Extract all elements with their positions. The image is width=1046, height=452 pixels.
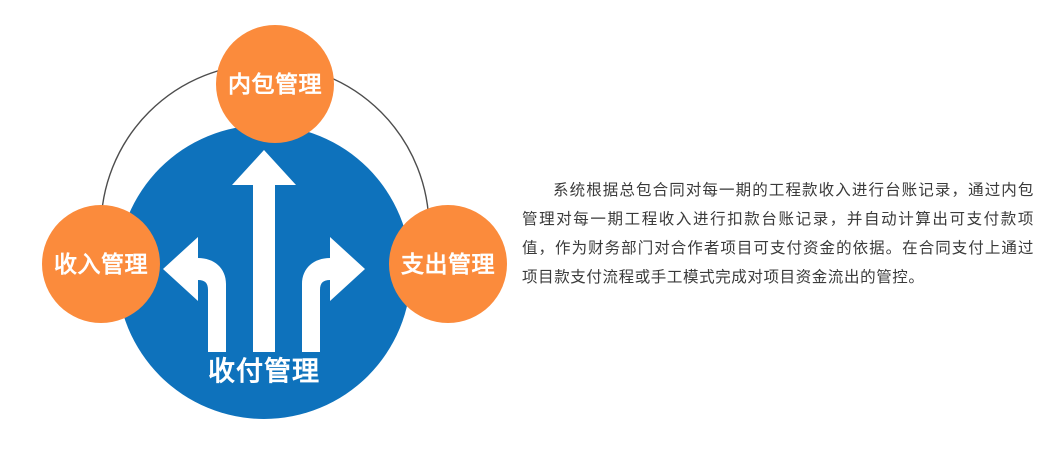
satellite-top[interactable]: 内包管理 bbox=[216, 25, 334, 143]
satellite-right-label: 支出管理 bbox=[400, 251, 495, 278]
diagram-page: 收付管理 内包管理 收入管理 支出管理 系统根据总包合同对每一期的工程款收入进行… bbox=[0, 0, 1046, 452]
satellite-left[interactable]: 收入管理 bbox=[42, 205, 160, 323]
satellite-top-label: 内包管理 bbox=[228, 71, 322, 98]
core-label: 收付管理 bbox=[208, 357, 320, 388]
description-block: 系统根据总包合同对每一期的工程款收入进行台账记录，通过内包管理对每一期工程收入进… bbox=[522, 176, 1034, 336]
satellite-left-label: 收入管理 bbox=[54, 251, 148, 278]
description-paragraph: 系统根据总包合同对每一期的工程款收入进行台账记录，通过内包管理对每一期工程收入进… bbox=[522, 176, 1034, 292]
cycle-diagram: 收付管理 内包管理 收入管理 支出管理 bbox=[0, 0, 520, 452]
satellite-right[interactable]: 支出管理 bbox=[389, 205, 507, 323]
